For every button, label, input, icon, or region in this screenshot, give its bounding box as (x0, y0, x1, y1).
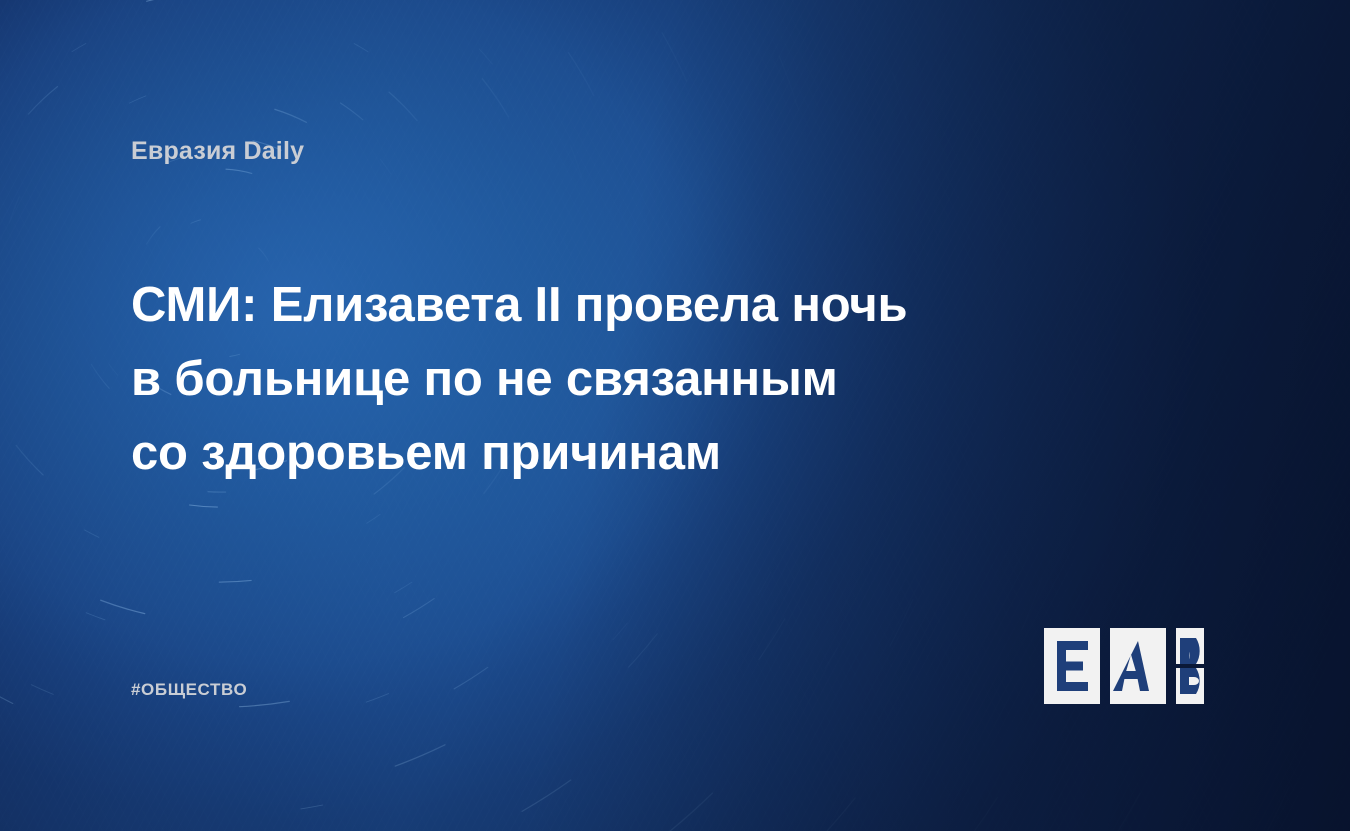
category-tag[interactable]: #ОБЩЕСТВО (131, 680, 247, 700)
headline: СМИ: Елизавета II провела ночь в больниц… (131, 268, 1031, 490)
card-content: Евразия Daily СМИ: Елизавета II провела … (0, 0, 1350, 831)
news-card: Евразия Daily СМИ: Елизавета II провела … (0, 0, 1350, 831)
site-name: Евразия Daily (131, 137, 304, 166)
ead-logo (1044, 628, 1220, 704)
logo-letter-d (1180, 638, 1200, 694)
headline-line-3: со здоровьем причинам (131, 416, 1031, 490)
headline-line-1: СМИ: Елизавета II провела ночь (131, 268, 1031, 342)
headline-line-2: в больнице по не связанным (131, 342, 1031, 416)
